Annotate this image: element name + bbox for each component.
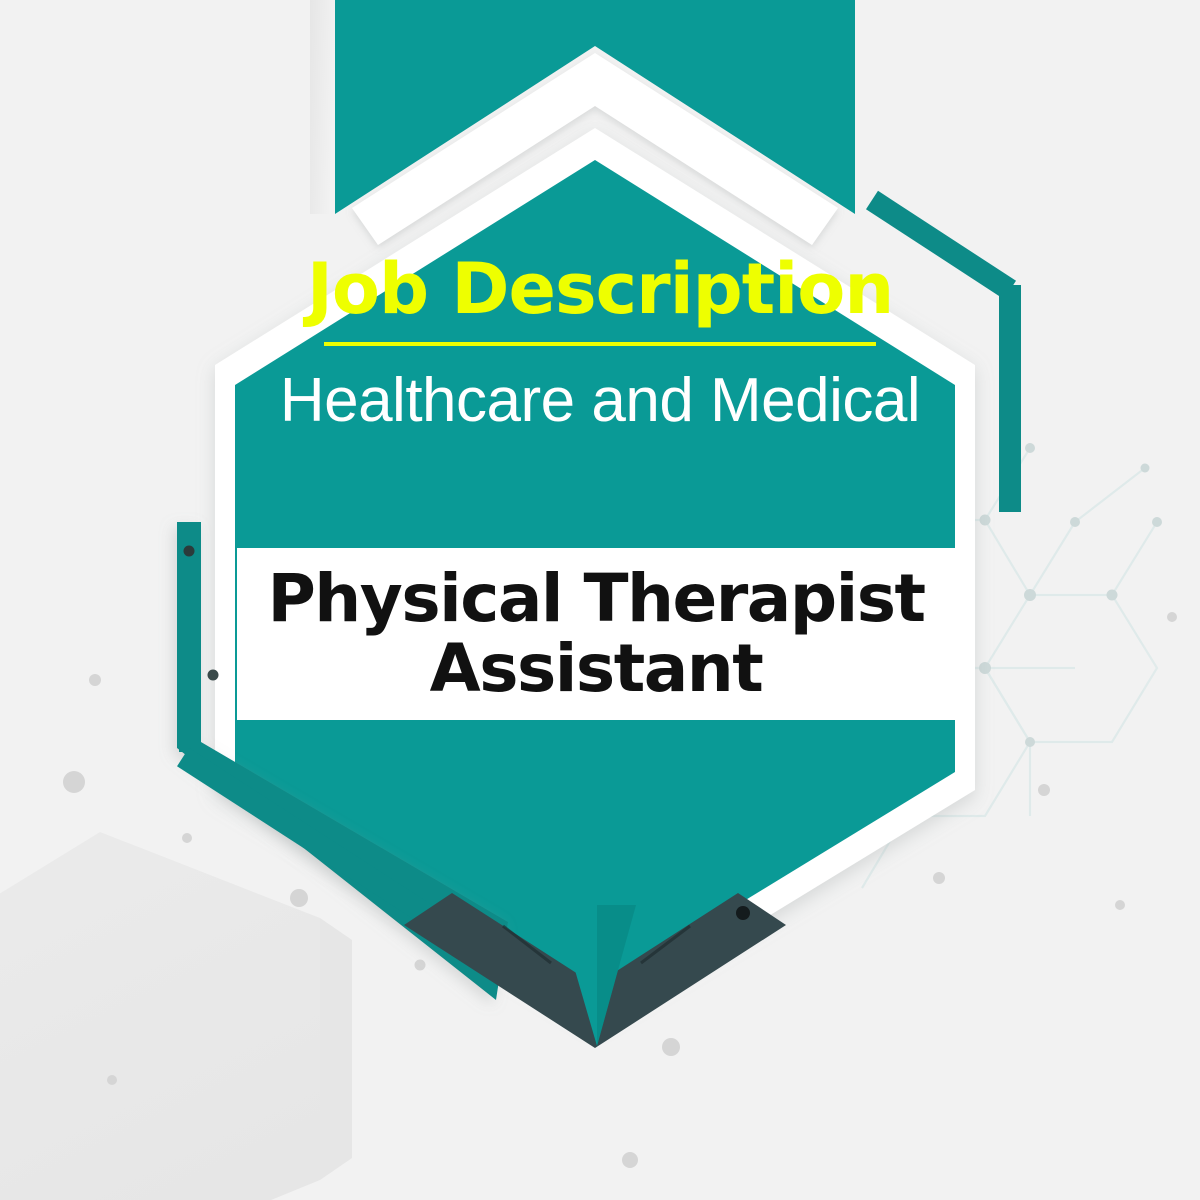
title-underline — [324, 342, 876, 346]
page-title: Job Description — [240, 240, 960, 324]
badge-text-block: Job Description Healthcare and Medical — [240, 240, 960, 435]
job-title-band: Physical Therapist Assistant — [237, 548, 955, 720]
category-label: Healthcare and Medical — [240, 368, 960, 435]
job-title: Physical Therapist Assistant — [237, 564, 955, 704]
poster-canvas: Job Description Healthcare and Medical P… — [0, 0, 1200, 1200]
grey-hexagon-edge-shade — [320, 918, 352, 1180]
